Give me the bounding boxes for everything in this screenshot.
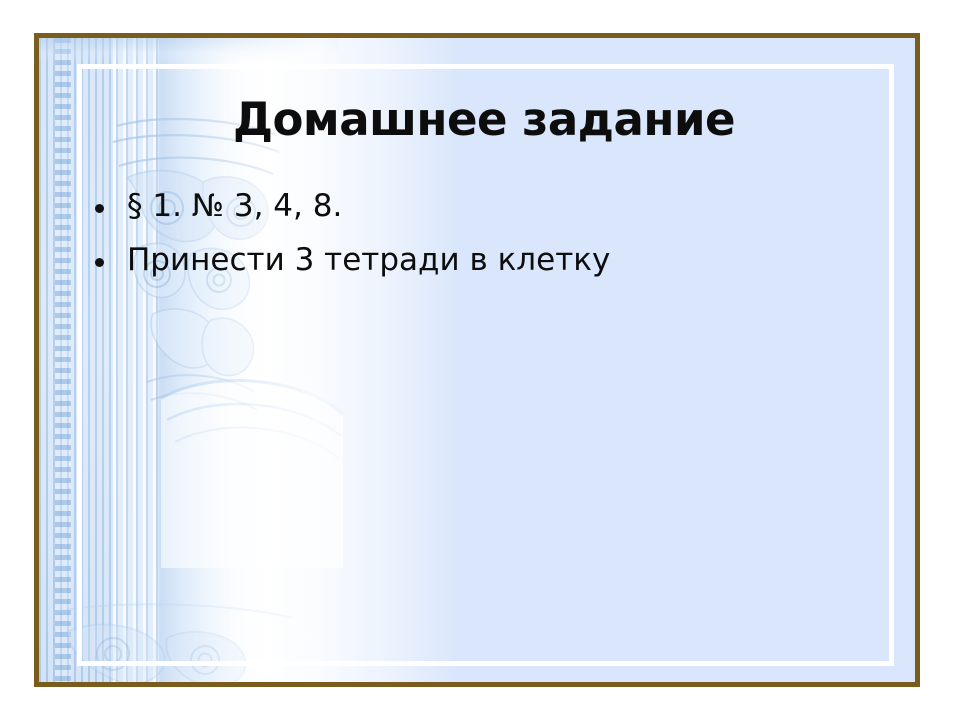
bullet-item-2: Принести 3 тетради в клетку — [61, 242, 901, 280]
bullet-dot-icon — [95, 204, 104, 213]
slide-brown-border-frame: Домашнее задание § 1. № 3, 4, 8. Принест… — [34, 33, 920, 687]
bullet-dot-icon — [95, 258, 104, 267]
bullet-item-1-text: § 1. № 3, 4, 8. — [127, 188, 342, 226]
slide-title: Домашнее задание — [79, 96, 889, 143]
bullet-item-1: § 1. № 3, 4, 8. — [61, 188, 901, 226]
bullet-item-2-text: Принести 3 тетради в клетку — [127, 242, 610, 280]
slide-content-canvas: Домашнее задание § 1. № 3, 4, 8. Принест… — [39, 38, 915, 682]
slide-text-layer: Домашнее задание § 1. № 3, 4, 8. Принест… — [39, 38, 915, 682]
presentation-slide: Домашнее задание § 1. № 3, 4, 8. Принест… — [0, 0, 960, 720]
slide-bullet-list: § 1. № 3, 4, 8. Принести 3 тетради в кле… — [61, 188, 901, 296]
